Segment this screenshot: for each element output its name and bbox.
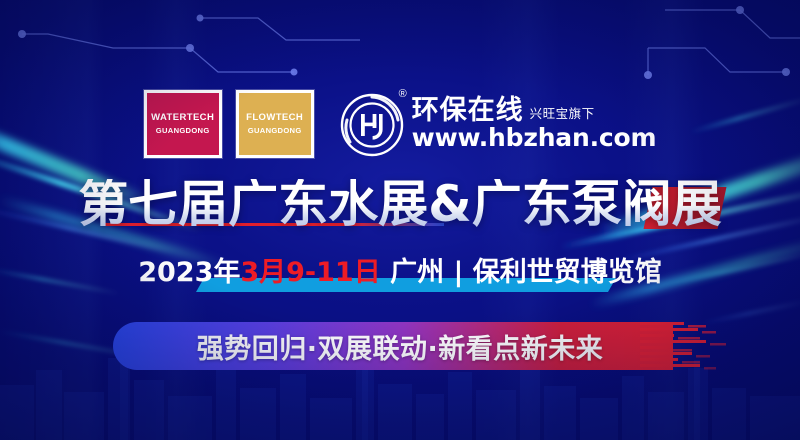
event-year: 2023年: [138, 257, 240, 288]
event-venue: 广州 | 保利世贸博览馆: [381, 257, 662, 288]
main-title-area: 第七届广东水展&广东泵阀展: [0, 173, 800, 235]
registered-trademark-icon: ®: [399, 89, 407, 100]
watertech-logo-sub: GUANGDONG: [156, 126, 210, 136]
exhibition-banner: WATERTECH GUANGDONG FLOWTECH GUANGDONG: [0, 0, 800, 440]
flowtech-logo-sub: GUANGDONG: [248, 126, 302, 136]
hbzhan-tagline-cn: 兴旺宝旗下: [530, 103, 595, 124]
hbzhan-name-cn: 环保在线: [412, 97, 524, 124]
logo-row: WATERTECH GUANGDONG FLOWTECH GUANGDONG: [0, 84, 800, 164]
page-title: 第七届广东水展&广东泵阀展: [78, 179, 722, 229]
date-venue-text: 2023年3月9-11日 广州 | 保利世贸博览馆: [138, 259, 662, 286]
watertech-guangdong-logo: WATERTECH GUANGDONG: [144, 90, 222, 158]
hbzhan-logo: ® 环保在线 兴旺宝旗下 www.hbzhan.com: [338, 90, 657, 158]
hbzhan-text-block: 环保在线 兴旺宝旗下 www.hbzhan.com: [412, 97, 657, 151]
watertech-logo-main: WATERTECH: [151, 113, 214, 124]
event-dates: 3月9-11日: [240, 257, 380, 288]
flowtech-guangdong-logo: FLOWTECH GUANGDONG: [236, 90, 314, 158]
hbzhan-url: www.hbzhan.com: [412, 125, 657, 151]
slogan-area: 强势回归·双展联动·新看点新未来: [0, 318, 800, 374]
flowtech-logo-main: FLOWTECH: [246, 113, 303, 124]
hbzhan-monogram-icon: ®: [338, 90, 406, 158]
date-venue-area: 2023年3月9-11日 广州 | 保利世贸博览馆: [0, 250, 800, 294]
slogan-text: 强势回归·双展联动·新看点新未来: [0, 318, 800, 374]
